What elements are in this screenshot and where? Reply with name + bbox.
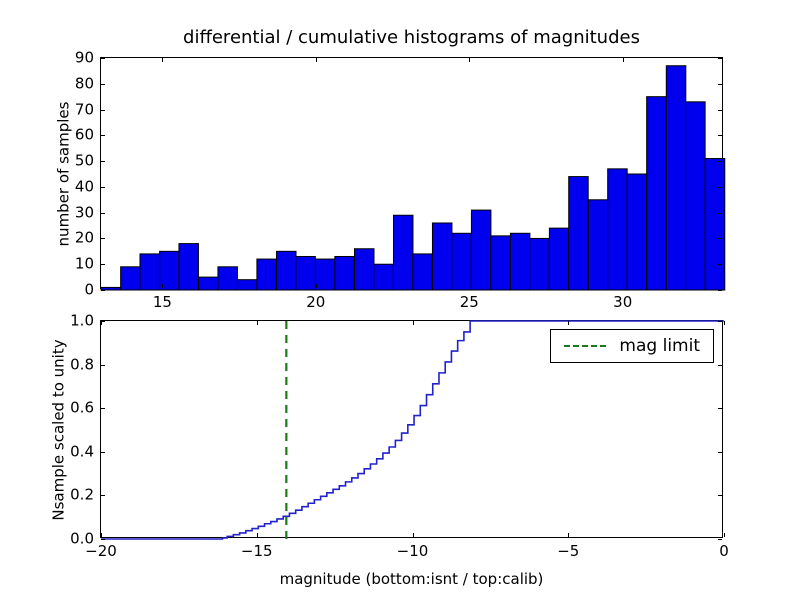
y-tick-label: 70 [75, 102, 94, 117]
x-tick-mark [257, 321, 258, 325]
y-tick-mark [101, 539, 105, 540]
x-tick-label: −5 [557, 544, 579, 559]
histogram-bar [413, 254, 432, 290]
y-tick-mark [101, 110, 105, 111]
y-tick-mark [101, 238, 105, 239]
y-tick-mark [101, 452, 105, 453]
x-tick-mark [257, 533, 258, 537]
bottom-y-axis-label: Nsample scaled to unity [49, 339, 67, 520]
x-tick-label: 20 [306, 295, 325, 310]
histogram-bar [277, 251, 296, 290]
y-tick-mark [718, 238, 722, 239]
y-tick-mark [101, 187, 105, 188]
y-tick-mark [718, 187, 722, 188]
y-tick-mark [718, 161, 722, 162]
matplotlib-figure: differential / cumulative histograms of … [0, 0, 800, 600]
y-tick-mark [101, 365, 105, 366]
x-tick-mark [413, 533, 414, 537]
x-tick-mark [469, 58, 470, 62]
x-tick-label: 15 [153, 295, 172, 310]
histogram-bar [530, 238, 549, 290]
y-tick-mark [718, 58, 722, 59]
histogram-bar [647, 97, 666, 290]
figure-title: differential / cumulative histograms of … [101, 28, 722, 48]
x-tick-mark [162, 58, 163, 62]
histogram-bar [666, 66, 685, 290]
histogram-bar [471, 210, 490, 290]
mag-limit-legend-label: mag limit [619, 337, 700, 355]
histogram-bar [335, 256, 354, 290]
y-tick-label: 50 [75, 154, 94, 169]
y-tick-mark [718, 264, 722, 265]
x-tick-label: 0 [719, 544, 729, 559]
legend: mag limit [550, 329, 714, 363]
y-tick-label: 80 [75, 76, 94, 91]
x-tick-mark [724, 533, 725, 537]
histogram-bar [316, 259, 335, 290]
y-tick-label: 1.0 [70, 314, 94, 329]
y-tick-mark [718, 110, 722, 111]
x-tick-mark [316, 58, 317, 62]
x-tick-label: −20 [85, 544, 117, 559]
histogram-bar [296, 256, 315, 290]
y-tick-mark [718, 135, 722, 136]
y-tick-mark [101, 264, 105, 265]
x-tick-mark [469, 284, 470, 288]
x-tick-label: 30 [613, 295, 632, 310]
histogram-bar [432, 223, 451, 290]
x-axis-label: magnitude (bottom:isnt / top:calib) [100, 570, 723, 588]
y-tick-label: 40 [75, 179, 94, 194]
histogram-bar [257, 259, 276, 290]
y-tick-label: 0 [84, 283, 94, 298]
y-tick-mark [718, 539, 722, 540]
histogram-bar [218, 267, 237, 290]
y-tick-mark [101, 84, 105, 85]
histogram-bars-layer [101, 58, 724, 290]
y-tick-mark [101, 290, 105, 291]
x-tick-label: −15 [241, 544, 273, 559]
top-y-axis-label: number of samples [54, 102, 72, 247]
histogram-bar [686, 102, 705, 290]
histogram-bar [588, 200, 607, 290]
y-tick-mark [101, 135, 105, 136]
x-tick-mark [724, 321, 725, 325]
y-tick-label: 0.8 [70, 357, 94, 372]
histogram-bar [608, 169, 627, 290]
histogram-bar [238, 280, 257, 290]
histogram-bar [140, 254, 159, 290]
y-tick-mark [101, 408, 105, 409]
x-tick-label: 25 [460, 295, 479, 310]
x-tick-mark [568, 321, 569, 325]
mag-limit-legend-swatch [564, 345, 606, 347]
y-tick-mark [101, 161, 105, 162]
histogram-bar [179, 244, 198, 290]
y-tick-label: 0.4 [70, 444, 94, 459]
y-tick-mark [718, 365, 722, 366]
y-tick-label: 60 [75, 128, 94, 143]
histogram-bar [452, 233, 471, 290]
histogram-bar [374, 264, 393, 290]
y-tick-label: 0.2 [70, 488, 94, 503]
histogram-bar [121, 267, 140, 290]
x-tick-label: −10 [397, 544, 429, 559]
y-tick-mark [718, 495, 722, 496]
x-tick-mark [623, 284, 624, 288]
y-tick-mark [718, 213, 722, 214]
y-tick-label: 10 [75, 257, 94, 272]
histogram-bar [510, 233, 529, 290]
histogram-bar [705, 159, 724, 290]
y-tick-label: 90 [75, 51, 94, 66]
histogram-bar [627, 174, 646, 290]
y-tick-label: 0.6 [70, 401, 94, 416]
histogram-bar [569, 177, 588, 290]
y-tick-mark [101, 495, 105, 496]
y-tick-mark [718, 452, 722, 453]
y-tick-label: 30 [75, 205, 94, 220]
histogram-bar [393, 215, 412, 290]
x-tick-mark [413, 321, 414, 325]
x-tick-mark [568, 533, 569, 537]
x-tick-mark [316, 284, 317, 288]
y-tick-mark [718, 321, 722, 322]
y-tick-mark [101, 213, 105, 214]
cumulative-histogram-axes: Nsample scaled to unity mag limit 0.00.2… [100, 320, 723, 538]
histogram-bar [199, 277, 218, 290]
differential-histogram-axes: differential / cumulative histograms of … [100, 57, 723, 289]
x-tick-mark [623, 58, 624, 62]
y-tick-mark [101, 58, 105, 59]
y-tick-mark [718, 408, 722, 409]
histogram-bar [354, 249, 373, 290]
y-tick-mark [718, 84, 722, 85]
histogram-bar [491, 236, 510, 290]
x-tick-mark [101, 533, 102, 537]
y-tick-label: 20 [75, 231, 94, 246]
x-tick-mark [101, 321, 102, 325]
y-tick-mark [718, 290, 722, 291]
histogram-bar [549, 228, 568, 290]
x-tick-mark [162, 284, 163, 288]
